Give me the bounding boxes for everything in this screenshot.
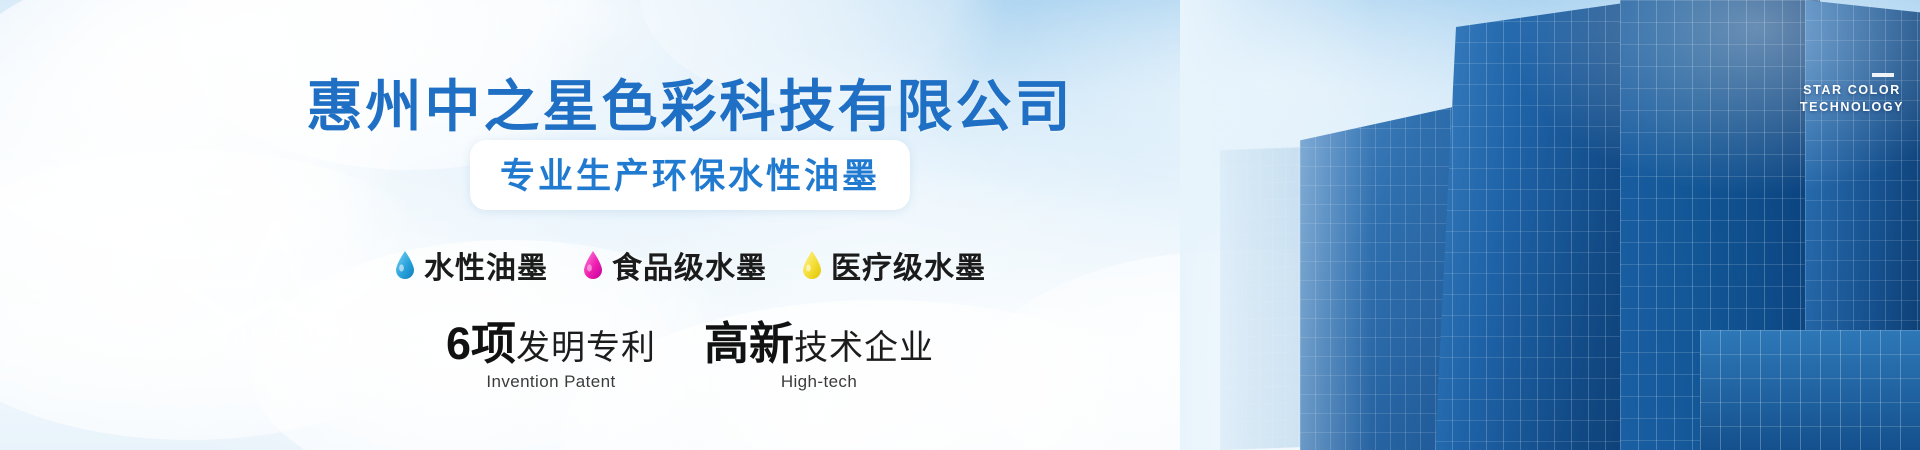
company-hero-banner: Star Color STAR COLOR TECHNOLOGY 惠州中之星色彩… — [0, 0, 1920, 450]
building-signage: STAR COLOR TECHNOLOGY — [1793, 82, 1911, 116]
badge-english-text: High-tech — [704, 372, 934, 392]
product-feature-list: 水性油墨 食品级水墨 — [0, 243, 1380, 287]
badge-chinese-line: 高新技术企业 — [704, 320, 934, 367]
badge-strong-text: 6项 — [446, 318, 516, 369]
badge-strong-text: 高新 — [704, 318, 794, 369]
building-foreground-block — [1700, 330, 1920, 450]
badge-rest-text: 技术企业 — [794, 329, 934, 367]
company-headline: 惠州中之星色彩科技有限公司 — [0, 62, 1380, 143]
credential-badge-list: 6项发明专利 Invention Patent 高新技术企业 High-tech — [0, 320, 1380, 392]
building-right-slab — [1620, 0, 1820, 450]
credential-badge: 高新技术企业 High-tech — [704, 320, 934, 392]
banner-content: 惠州中之星色彩科技有限公司 专业生产环保水性油墨 水性油 — [0, 0, 1380, 450]
building-center-tall — [1435, 0, 1645, 450]
feature-item: 食品级水墨 — [582, 243, 767, 287]
building-sign-line-2: TECHNOLOGY — [1793, 99, 1911, 116]
water-drop-icon — [801, 250, 823, 280]
building-far-right — [1805, 0, 1920, 450]
building-sign-dash — [1872, 73, 1894, 77]
feature-item: 水性油墨 — [394, 243, 548, 287]
water-drop-icon — [582, 250, 604, 280]
feature-label: 医疗级水墨 — [831, 243, 986, 287]
badge-rest-text: 发明专利 — [516, 329, 656, 367]
feature-label: 水性油墨 — [424, 243, 548, 287]
feature-item: 医疗级水墨 — [801, 243, 986, 287]
badge-english-text: Invention Patent — [446, 372, 656, 392]
water-drop-icon — [394, 250, 416, 280]
badge-chinese-line: 6项发明专利 — [446, 320, 656, 367]
credential-badge: 6项发明专利 Invention Patent — [446, 320, 656, 392]
subtitle-pill: 专业生产环保水性油墨 — [470, 140, 910, 210]
building-sign-line-1: STAR COLOR — [1793, 82, 1911, 99]
feature-label: 食品级水墨 — [612, 243, 767, 287]
subtitle-pill-wrapper: 专业生产环保水性油墨 — [0, 140, 1380, 210]
